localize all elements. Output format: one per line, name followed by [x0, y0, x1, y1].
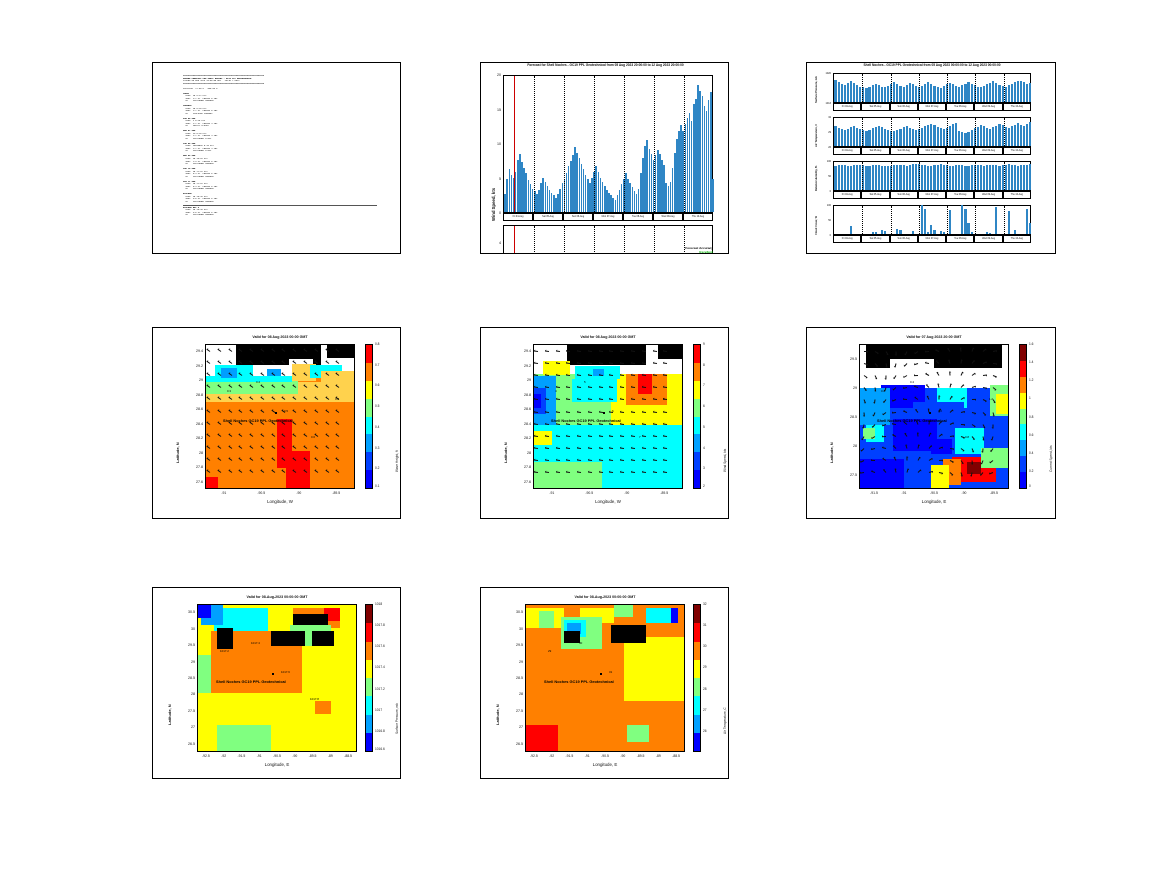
met-plot-area — [833, 73, 1031, 103]
wind-vector — [631, 447, 635, 449]
current-speed-map-colorbar-tick: 0.6 — [1029, 433, 1033, 437]
met-bar — [1017, 123, 1019, 146]
met-bar — [865, 131, 867, 146]
current-speed-map-y-tick: 29 — [837, 386, 857, 390]
wave-height-map-x-axis-label: Longitude, W — [205, 499, 355, 504]
surface-pressure-map-y-tick: 29.5 — [175, 643, 195, 647]
wave-height-map-x-tick: -90.5 — [247, 491, 275, 495]
contour-label: 0.8 — [335, 397, 339, 401]
colorbar-segment — [694, 434, 700, 452]
wind-vector — [950, 422, 954, 425]
met-bar — [967, 132, 969, 147]
wave-height-map-colorbar-tick: 0.7 — [375, 363, 379, 367]
colorbar-segment — [694, 381, 700, 399]
met-bar — [986, 84, 988, 102]
contour-label: 8 — [663, 397, 665, 401]
met-bar — [893, 131, 895, 146]
current-speed-map-x-tick: -89.5 — [980, 491, 1008, 495]
day-label-cell: Sat 05-Aug — [861, 147, 889, 155]
wind-vector — [620, 423, 624, 425]
gridline — [891, 206, 892, 234]
met-bar — [958, 87, 960, 102]
wave-height-map-panel: Valid for 08 Aug 2023 00:00 GMT0.30.40.5… — [152, 327, 401, 519]
met-bar — [995, 165, 997, 190]
wind-vector — [642, 459, 646, 461]
met-bar — [872, 165, 874, 190]
met-bar — [912, 84, 914, 102]
wind-speed-map-colorbar — [693, 344, 701, 489]
wind-speed-map-y-axis-label: Latitude, N — [503, 442, 508, 463]
wind-speed-map-y-tick: 28.8 — [511, 393, 531, 397]
met-axis-label: Relative Humidity, % — [815, 166, 818, 191]
colorbar-segment — [366, 623, 372, 641]
met-bar — [887, 86, 889, 102]
met-y-tick: 100 — [811, 160, 831, 163]
wind-vector — [652, 459, 656, 461]
wind-vector — [566, 435, 570, 437]
met-bar — [906, 126, 908, 146]
wind-speed-map-title: Valid for 08 Aug 2023 00:00 GMT — [533, 335, 683, 339]
surface-pressure-map-plot-area: 1017.21017.41017.61017.8Shell Noches GC1… — [197, 604, 357, 752]
contour-label: 31 — [609, 670, 612, 674]
contour-label: 1017.2 — [220, 649, 229, 653]
field-region — [955, 428, 985, 454]
day-label-cell: Tue 08-Aug — [946, 103, 974, 111]
met-bar — [915, 164, 917, 190]
contour-label: 1.2 — [989, 397, 993, 401]
current-speed-map-y-tick: 29.5 — [837, 357, 857, 361]
air-temperature-map-y-tick: 27 — [503, 725, 523, 729]
wave-height-map-x-tick: -89.5 — [322, 491, 350, 495]
wind-speed-map-y-tick: 28.4 — [511, 422, 531, 426]
wind-speed-map-colorbar-tick: 6 — [703, 404, 705, 408]
air-temperature-map-x-tick: -88.5 — [662, 754, 690, 758]
day-label-cell: Mon 07-Aug — [918, 235, 946, 243]
met-bar — [838, 165, 840, 190]
day-label-cell: Mon 07-Aug — [918, 191, 946, 199]
surface-pressure-map-y-tick: 28 — [175, 692, 195, 696]
met-bar — [875, 127, 877, 147]
gridline — [975, 162, 976, 190]
wind-speed-bar — [712, 179, 714, 212]
colorbar-segment — [694, 345, 700, 363]
met-bar — [903, 87, 905, 102]
met-bar — [949, 166, 951, 190]
met-bar — [912, 164, 914, 190]
colorbar-segment — [694, 399, 700, 417]
met-bar — [906, 166, 908, 190]
met-bar — [1008, 211, 1010, 234]
gridline — [919, 118, 920, 146]
contour-label: 0.2 — [881, 389, 885, 393]
colorbar-segment — [366, 715, 372, 733]
wind-vector — [631, 435, 635, 437]
met-bar — [865, 166, 867, 190]
met-bar — [1023, 165, 1025, 191]
met-bar — [906, 85, 908, 102]
met-bar — [924, 84, 926, 102]
met-axis-label: Air Temperature, C — [815, 124, 818, 147]
met-bar — [952, 124, 954, 146]
wind-y-tick: 10 — [489, 142, 501, 146]
field-region — [658, 345, 682, 359]
met-bar — [896, 165, 898, 191]
gridline — [1004, 118, 1005, 146]
wind-vector — [577, 447, 581, 449]
met-bar — [989, 129, 991, 147]
field-region — [217, 628, 233, 648]
field-region — [931, 465, 949, 488]
day-label-cell: Sat 05-Aug — [861, 103, 889, 111]
met-bar — [971, 165, 973, 190]
field-region — [611, 625, 646, 643]
met-bar — [1005, 127, 1007, 147]
wind-vector — [534, 435, 538, 437]
current-speed-map-panel: Valid for 07 Aug 2023 20:00 GMT0.20.40.6… — [806, 327, 1056, 519]
wind-vector — [566, 471, 570, 473]
day-label-cell: Wed 09-Aug — [974, 147, 1002, 155]
wind-vector — [577, 435, 581, 437]
wind-vector — [642, 447, 646, 449]
wind-vector — [609, 447, 613, 449]
air-temperature-map-colorbar-tick: 32 — [703, 602, 707, 606]
colorbar-segment — [366, 399, 372, 417]
met-bar — [872, 128, 874, 146]
site-label: Shell Noches GC19 PPL Geotechnical — [877, 418, 947, 423]
wind-vector — [577, 471, 581, 473]
contour-label: 0.5 — [284, 409, 288, 413]
met-bar — [992, 165, 994, 190]
wind-vector — [663, 423, 667, 425]
met-bar — [1029, 83, 1031, 102]
current-time-marker — [514, 76, 515, 212]
met-plot-area — [833, 117, 1031, 147]
wind-vector — [599, 435, 603, 437]
met-bar — [930, 124, 932, 147]
colorbar-segment — [1020, 361, 1026, 377]
met-y-tick: 50 — [811, 219, 831, 222]
contour-label: 1017.4 — [251, 641, 260, 645]
colorbar-segment — [366, 452, 372, 470]
met-bar — [838, 82, 840, 102]
met-bar — [933, 165, 935, 190]
gridline — [594, 226, 595, 254]
report-line: WX SCATTERED SHOWERS — [183, 201, 394, 204]
current-speed-map-x-tick: -90 — [950, 491, 978, 495]
surface-pressure-map-y-tick: 27 — [175, 725, 195, 729]
surface-pressure-map-colorbar-tick: 1017.8 — [375, 623, 385, 627]
colorbar-segment — [366, 345, 372, 363]
met-bar — [980, 165, 982, 190]
air-temperature-map-x-axis-label: Longitude, E — [525, 762, 685, 767]
wind-speed-map-y-tick: 29.4 — [511, 349, 531, 353]
current-speed-map-y-axis-label: Latitude, N — [829, 442, 834, 463]
met-bar — [859, 165, 861, 191]
met-bar — [875, 165, 877, 190]
colorbar-segment — [1020, 345, 1026, 361]
air-temperature-map-y-tick: 30 — [503, 627, 523, 631]
met-bar — [927, 82, 929, 102]
met-plot-area — [833, 205, 1031, 235]
wind-vector — [545, 459, 549, 461]
wind-vector — [534, 471, 538, 473]
surface-pressure-map-panel: Valid for 08-Aug-2023 00:00:00 GMT1017.2… — [152, 587, 401, 779]
wind-vector — [620, 435, 624, 437]
wave-height-map-y-tick: 28 — [183, 451, 203, 455]
wind-vector — [566, 447, 570, 449]
surface-pressure-map-colorbar-tick: 1016.6 — [375, 747, 385, 751]
current-speed-map-x-tick: -90.5 — [920, 491, 948, 495]
wave-height-map-colorbar-tick: 0.3 — [375, 446, 379, 450]
wind-vector — [885, 376, 886, 380]
contour-label: 0.6 — [938, 409, 942, 413]
met-bar — [844, 130, 846, 146]
met-bar — [989, 233, 991, 234]
met-bar — [884, 129, 886, 147]
wind-vector — [588, 459, 592, 461]
wind-vector — [555, 447, 559, 449]
met-bar — [940, 88, 942, 102]
wind-vector — [652, 435, 656, 437]
contour-label: 29 — [548, 649, 551, 653]
wind-vector — [950, 435, 954, 437]
met-bar — [881, 127, 883, 146]
met-bar — [986, 165, 988, 190]
surface-pressure-map-colorbar — [365, 604, 373, 752]
colorbar-segment — [1020, 440, 1026, 456]
current-speed-map-colorbar-label: Current Speed, kts — [1049, 445, 1053, 472]
met-bar — [921, 205, 923, 234]
met-bar — [899, 165, 901, 190]
wave-y-tick: 4 — [489, 241, 501, 245]
wind-vector — [885, 363, 887, 367]
met-bar — [859, 129, 861, 146]
surface-pressure-map-colorbar-tick: 1017.2 — [375, 687, 385, 691]
site-marker — [603, 412, 605, 414]
day-label-cell: Thu 10-Aug — [1003, 235, 1031, 243]
day-label-cell: Sun 06-Aug — [890, 235, 918, 243]
met-bar — [1011, 165, 1013, 191]
wind-speed-map-colorbar-tick: 9 — [703, 342, 705, 346]
field-region — [315, 701, 331, 714]
met-bar — [884, 87, 886, 102]
wind-speed-map-x-tick: -89.5 — [650, 491, 678, 495]
wind-vector — [881, 436, 885, 437]
met-bar — [841, 84, 843, 102]
met-bar — [995, 83, 997, 102]
met-bar — [1029, 122, 1031, 146]
met-bar — [909, 83, 911, 102]
surface-pressure-map-y-tick: 26.5 — [175, 742, 195, 746]
wind-speed-map-colorbar-tick: 4 — [703, 446, 705, 450]
met-bar — [878, 165, 880, 190]
wind-vector — [663, 471, 667, 473]
day-label-cell: Sat 05-Aug — [861, 235, 889, 243]
met-bar — [924, 165, 926, 190]
wind-vector — [642, 435, 646, 437]
colorbar-segment — [694, 363, 700, 381]
current-speed-map-colorbar-tick: 1.4 — [1029, 360, 1033, 364]
gridline — [975, 206, 976, 234]
wind-speed-map-colorbar-label: Wind Speed, kts — [723, 449, 727, 472]
wave-height-map-y-tick: 28.4 — [183, 422, 203, 426]
colorbar-segment — [1020, 472, 1026, 488]
met-bar — [841, 129, 843, 146]
wind-speed-map-y-tick: 27.6 — [511, 480, 531, 484]
day-label-cell: Fri 04-Aug — [833, 191, 861, 199]
colorbar-segment — [1020, 456, 1026, 472]
met-bar — [887, 166, 889, 190]
gridline — [534, 226, 535, 254]
met-bar — [853, 165, 855, 190]
wind-vector — [972, 412, 976, 414]
current-speed-map-colorbar-tick: 1.2 — [1029, 378, 1033, 382]
met-bar — [924, 126, 926, 146]
met-bar — [896, 130, 898, 146]
met-bar — [986, 232, 988, 234]
contour-label: 1017.6 — [281, 670, 290, 674]
wind-vector — [652, 423, 656, 425]
met-bar — [893, 165, 895, 190]
field-region — [534, 462, 602, 488]
met-bar — [838, 128, 840, 146]
gridline — [891, 74, 892, 102]
met-bar — [850, 81, 852, 102]
air-temperature-map-y-tick: 27.5 — [503, 709, 523, 713]
gridline — [947, 162, 948, 190]
air-temperature-map-panel: Valid for 08-Aug-2023 00:00:00 GMT293031… — [480, 587, 729, 779]
colorbar-segment — [694, 696, 700, 714]
day-label-cell: Sun 06-Aug — [890, 191, 918, 199]
wind-vector — [642, 411, 646, 413]
day-label-cell: Wed 09-Aug — [974, 191, 1002, 199]
colorbar-segment — [1020, 393, 1026, 409]
contour-label: 0.8 — [965, 435, 969, 439]
wind-vector — [599, 423, 603, 425]
met-bar — [930, 84, 932, 102]
wind-vector — [545, 435, 549, 437]
met-bar — [909, 128, 911, 147]
met-bar — [1005, 87, 1007, 102]
met-bar — [872, 85, 874, 102]
wind-vector — [874, 388, 876, 392]
wind-speed-map-plot-area: 45678Shell Noches GC19 PPL Geotechnical — [533, 344, 683, 489]
wind-vector — [545, 447, 549, 449]
air-temperature-map-colorbar-tick: 26 — [703, 729, 707, 733]
field-region — [217, 725, 271, 751]
met-bar — [875, 84, 877, 102]
air-temperature-map-y-tick: 28.5 — [503, 676, 523, 680]
colorbar-segment — [694, 470, 700, 488]
wind-vector — [928, 471, 932, 473]
colorbar-segment — [366, 470, 372, 488]
wind-vector — [961, 424, 965, 425]
met-bar — [921, 128, 923, 147]
surface-pressure-map-y-tick: 30.5 — [175, 610, 195, 614]
met-bar — [896, 84, 898, 102]
met-bar — [868, 87, 870, 102]
current-speed-map-plot-area: 0.20.40.60.81.2Shell Noches GC19 PPL Geo… — [859, 344, 1009, 489]
colorbar-segment — [366, 417, 372, 435]
site-label: Shell Noches GC19 PPL Geotechnical — [544, 679, 614, 684]
wave-height-map-colorbar — [365, 344, 373, 489]
colorbar-segment — [694, 417, 700, 435]
met-bar — [992, 127, 994, 146]
current-speed-map-colorbar-tick: 0 — [1029, 484, 1031, 488]
field-region — [614, 605, 633, 617]
wind-speed-map-x-tick: -90.5 — [575, 491, 603, 495]
met-bar — [967, 82, 969, 102]
contour-label: 7 — [639, 435, 641, 439]
wind-vector — [950, 448, 954, 450]
met-bar — [915, 130, 917, 146]
day-label-cell: Wed 09-Aug — [653, 213, 683, 221]
met-bar — [964, 84, 966, 102]
met-bar — [949, 126, 951, 146]
surface-pressure-map-y-tick: 27.5 — [175, 709, 195, 713]
wind-y-tick: 20 — [489, 73, 501, 77]
met-bar — [903, 165, 905, 190]
wind-vector — [663, 447, 667, 449]
met-bar — [834, 166, 836, 190]
met-bar — [881, 230, 883, 234]
wave-height-map-y-axis-label: Latitude, N — [175, 442, 180, 463]
colorbar-segment — [1020, 377, 1026, 393]
field-region — [271, 631, 306, 646]
wind-vector — [652, 447, 656, 449]
wind-vector — [631, 459, 635, 461]
air-temperature-map-colorbar-tick: 31 — [703, 623, 707, 627]
met-bar — [964, 166, 966, 190]
wave-height-map-title: Valid for 08 Aug 2023 00:00 GMT — [205, 335, 355, 339]
colorbar-segment — [1020, 409, 1026, 425]
wind-vector — [577, 411, 581, 413]
wind-vector — [588, 423, 592, 425]
current-speed-map-x-tick: -91.5 — [860, 491, 888, 495]
met-day-strip: Fri 04-AugSat 05-AugSun 06-AugMon 07-Aug… — [833, 191, 1031, 199]
wind-vector — [609, 459, 613, 461]
met-plot-area — [833, 161, 1031, 191]
met-bar — [856, 128, 858, 147]
wind-vector — [631, 411, 635, 413]
met-bar — [1011, 126, 1013, 146]
met-bar — [955, 86, 957, 102]
air-temperature-map-colorbar-label: Air Temperature, C — [723, 707, 727, 734]
met-bar — [899, 86, 901, 102]
met-bar — [921, 86, 923, 102]
met-bar — [841, 165, 843, 190]
wind-speed-map-y-tick: 29.2 — [511, 364, 531, 368]
wind-speed-map-x-tick: -90 — [613, 491, 641, 495]
colorbar-segment — [366, 605, 372, 623]
met-bar — [899, 230, 901, 234]
air-temperature-map-colorbar-tick: 27 — [703, 708, 707, 712]
current-speed-map-colorbar — [1019, 344, 1027, 489]
wind-speed-map-y-tick: 28.2 — [511, 436, 531, 440]
wind-speed-map-y-tick: 29 — [511, 378, 531, 382]
wind-y-tick: 5 — [489, 177, 501, 181]
day-label-cell: Thu 10-Aug — [683, 213, 713, 221]
wind-vector — [620, 411, 624, 413]
met-bar — [961, 205, 963, 234]
colorbar-segment — [366, 363, 372, 381]
met-bar — [1029, 223, 1031, 234]
current-speed-map-colorbar-tick: 0.4 — [1029, 451, 1033, 455]
met-bar — [927, 125, 929, 147]
colorbar-segment — [694, 660, 700, 678]
met-bar — [909, 165, 911, 190]
met-bar — [850, 166, 852, 190]
